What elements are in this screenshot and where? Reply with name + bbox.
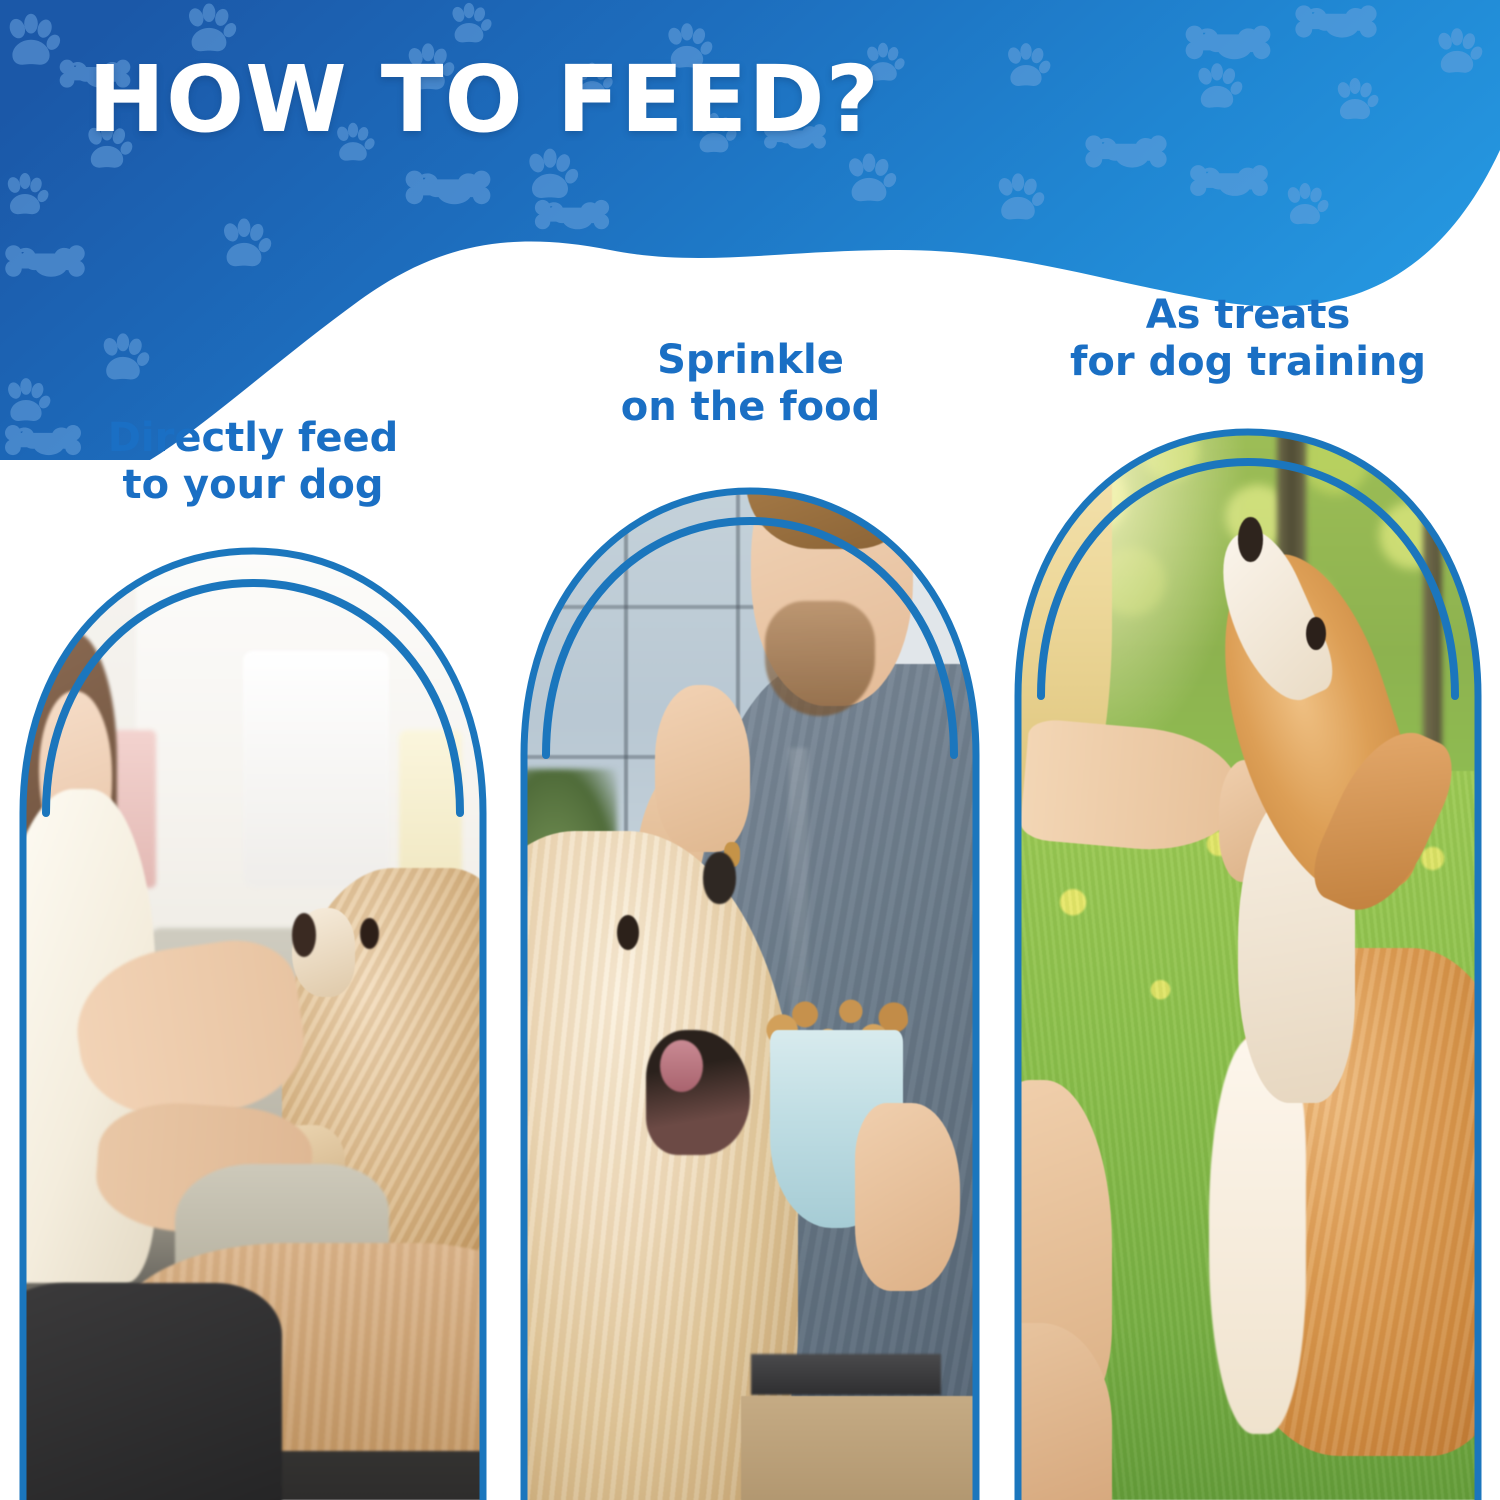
arch-frame-2 [512,455,989,1500]
column-label-sprinkle-on-food: Sprinkle on the food [512,337,989,431]
how-to-feed-infographic: HOW TO FEED? Directly feed to your dog [0,0,1500,1500]
photo-card-directly-feed[interactable] [10,513,496,1500]
photo-directly-feed [10,513,496,1500]
photo-card-sprinkle-on-food[interactable] [512,455,989,1500]
photo-card-treats-for-training[interactable] [1005,396,1491,1500]
column-label-directly-feed: Directly feed to your dog [10,415,496,509]
page-title: HOW TO FEED? [88,52,880,149]
arch-frame-3 [1005,396,1491,1500]
arch-frame-1 [10,513,496,1500]
column-label-treats-for-training: As treats for dog training [1005,292,1491,386]
